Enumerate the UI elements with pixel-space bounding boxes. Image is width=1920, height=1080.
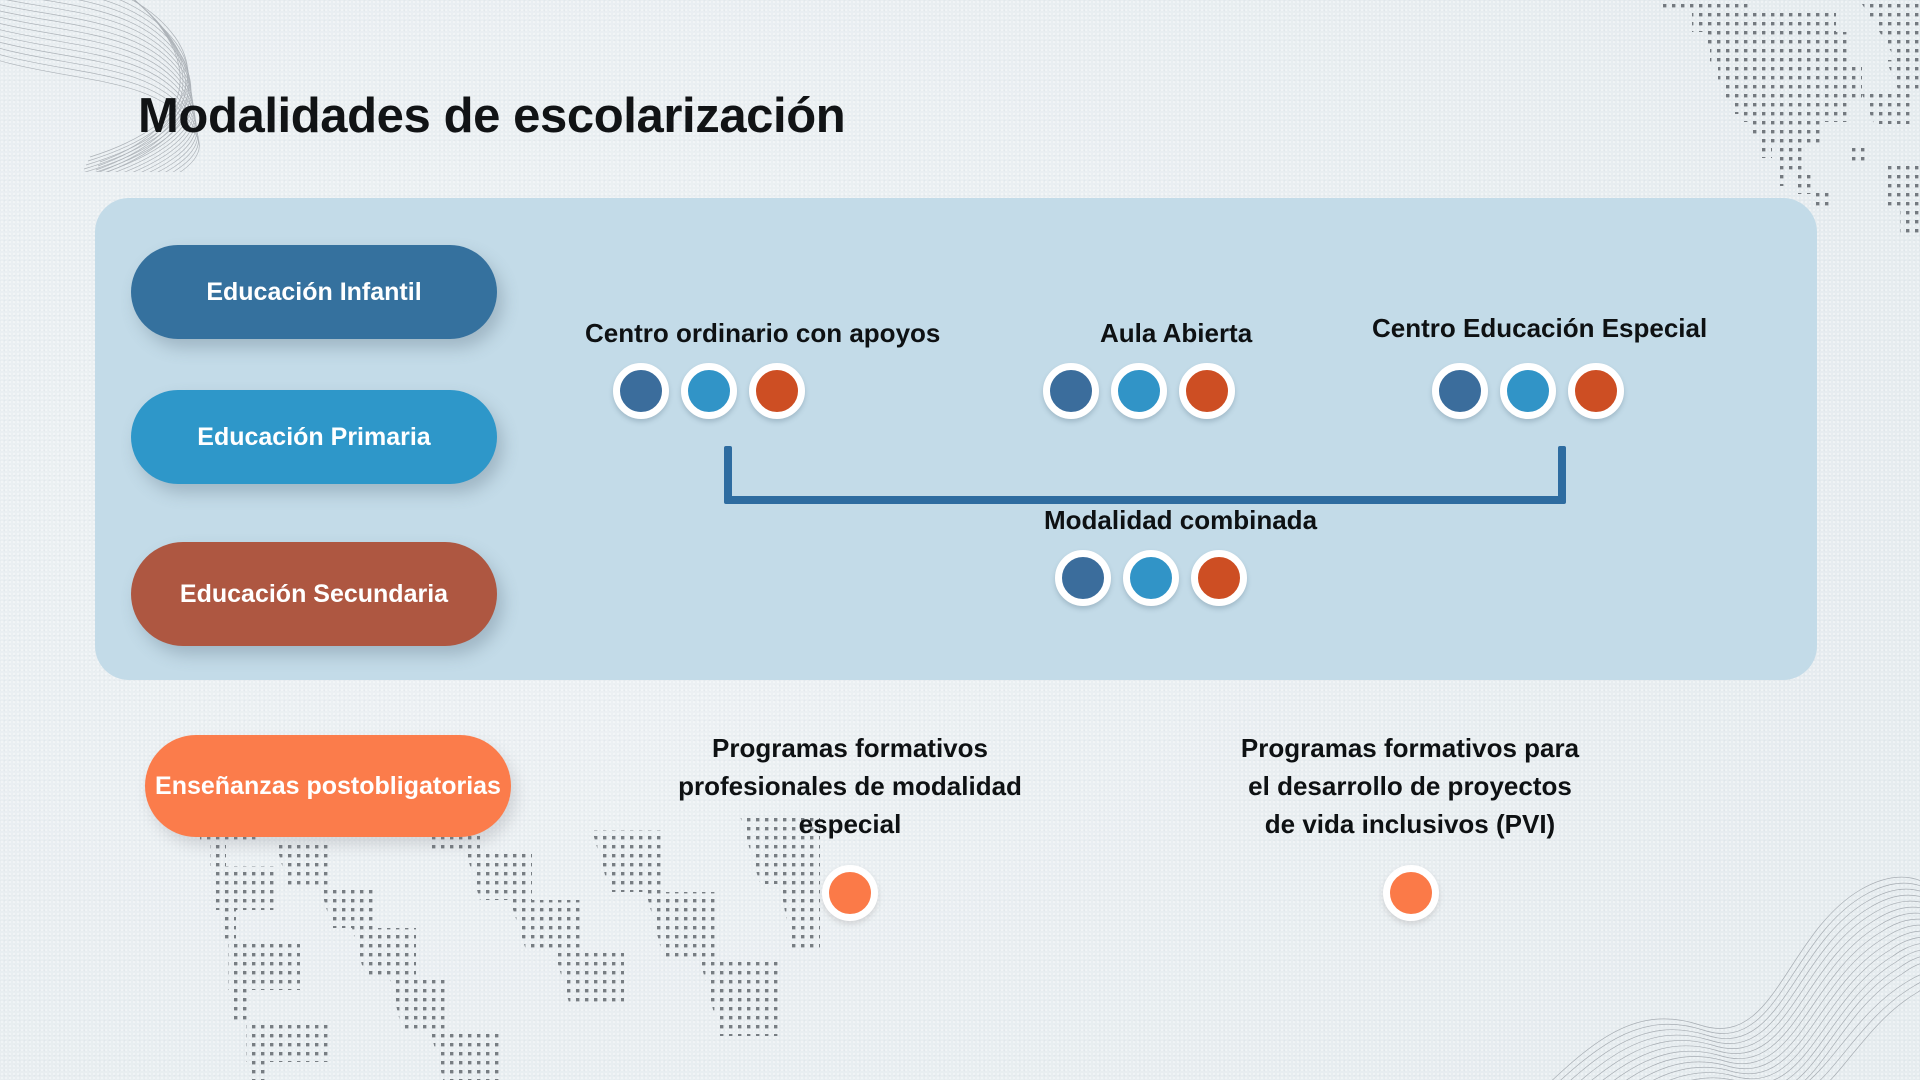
stage-dot-secundaria[interactable]	[1568, 363, 1624, 419]
program-line: de vida inclusivos (PVI)	[1200, 806, 1620, 844]
program-block-profesionales: Programas formativos profesionales de mo…	[650, 730, 1050, 844]
dot-row-centro-educacion-especial	[1432, 363, 1624, 419]
bracket-left-stub	[724, 446, 732, 502]
column-title-aula-abierta: Aula Abierta	[1100, 318, 1252, 349]
program-dot-pvi[interactable]	[1383, 865, 1439, 921]
slide-canvas: Modalidades de escolarización Educación …	[0, 0, 1920, 1080]
program-dot-profesionales[interactable]	[822, 865, 878, 921]
stage-dot-infantil[interactable]	[1043, 363, 1099, 419]
stage-pill-ensenanzas-postobligatorias[interactable]: Enseñanzas postobligatorias	[145, 735, 511, 837]
stage-dot-primaria[interactable]	[1500, 363, 1556, 419]
dot-row-aula-abierta	[1043, 363, 1235, 419]
stage-pill-label: Educación Secundaria	[180, 579, 448, 610]
stage-dot-infantil[interactable]	[1432, 363, 1488, 419]
stage-pill-label: Enseñanzas postobligatorias	[155, 771, 501, 802]
dot-row-modalidad-combinada	[1055, 550, 1247, 606]
wave-lines-decoration-top-left	[0, 0, 270, 172]
column-title-centro-ordinario: Centro ordinario con apoyos	[585, 318, 940, 349]
program-line: profesionales de modalidad	[650, 768, 1050, 806]
page-title: Modalidades de escolarización	[138, 88, 845, 144]
wave-lines-decoration-bottom-right	[1520, 830, 1920, 1080]
stage-dot-secundaria[interactable]	[1191, 550, 1247, 606]
column-title-centro-educacion-especial: Centro Educación Especial	[1372, 313, 1707, 344]
program-line: el desarrollo de proyectos	[1200, 768, 1620, 806]
combined-modality-bracket-connector	[724, 446, 1566, 506]
stage-dot-primaria[interactable]	[1111, 363, 1167, 419]
stage-dot-secundaria[interactable]	[749, 363, 805, 419]
program-block-pvi: Programas formativos para el desarrollo …	[1200, 730, 1620, 844]
program-line: Programas formativos	[650, 730, 1050, 768]
program-line: especial	[650, 806, 1050, 844]
stage-dot-primaria[interactable]	[1123, 550, 1179, 606]
stage-pill-educacion-primaria[interactable]: Educación Primaria	[131, 390, 497, 484]
program-line: Programas formativos para	[1200, 730, 1620, 768]
stage-pill-label: Educación Primaria	[197, 422, 430, 453]
stage-dot-infantil[interactable]	[1055, 550, 1111, 606]
dot-row-centro-ordinario	[613, 363, 805, 419]
stage-pill-educacion-secundaria[interactable]: Educación Secundaria	[131, 542, 497, 646]
stage-pill-label: Educación Infantil	[206, 277, 421, 308]
stage-dot-primaria[interactable]	[681, 363, 737, 419]
stage-dot-infantil[interactable]	[613, 363, 669, 419]
stage-dot-secundaria[interactable]	[1179, 363, 1235, 419]
column-title-modalidad-combinada: Modalidad combinada	[1044, 505, 1317, 536]
bracket-right-stub	[1558, 446, 1566, 502]
bracket-base-line	[724, 496, 1566, 504]
stage-pill-educacion-infantil[interactable]: Educación Infantil	[131, 245, 497, 339]
